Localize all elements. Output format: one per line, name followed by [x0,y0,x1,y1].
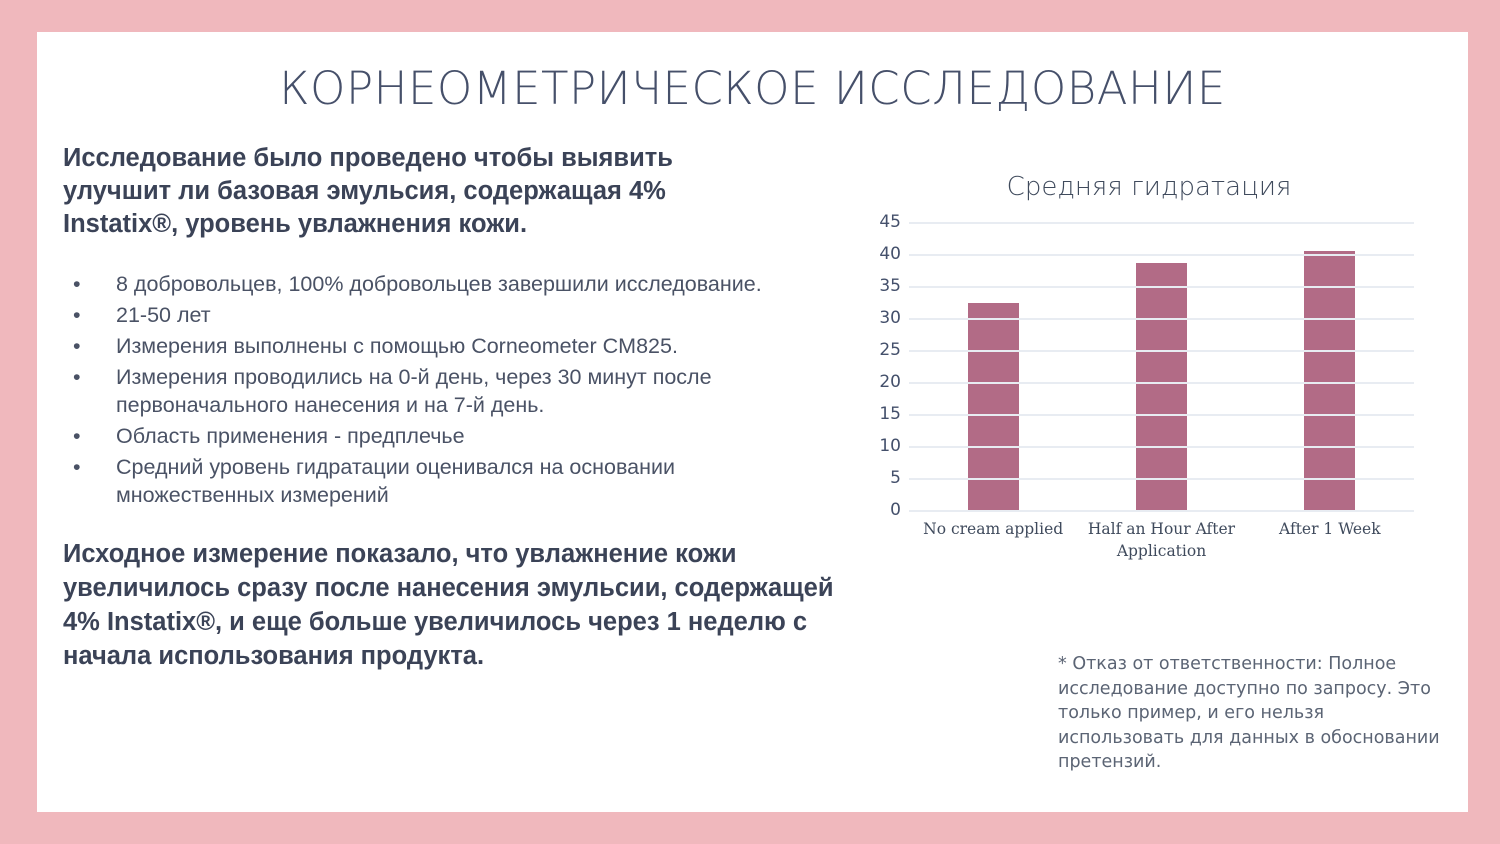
closing-paragraph: Исходное измерение показало, что увлажне… [63,538,863,674]
bullet-icon: • [73,302,81,330]
left-content-column: Исследование было проведено чтобы выявит… [63,142,883,674]
list-item: • 21-50 лет [63,302,773,330]
y-axis-tick-label: 10 [849,436,901,456]
gridline [909,254,1414,256]
gridline [909,382,1414,384]
y-axis-tick-label: 15 [849,404,901,424]
x-axis-tick-label: Half an Hour After Application [1078,518,1246,563]
plot-area [909,222,1414,510]
y-axis-tick-label: 20 [849,372,901,392]
gridline [909,222,1414,224]
gridline [909,414,1414,416]
list-item-label: Измерения проводились на 0-й день, через… [116,365,712,417]
gridline [909,446,1414,448]
bars-layer [909,222,1414,510]
lead-paragraph: Исследование было проведено чтобы выявит… [63,142,773,241]
list-item: • 8 добровольцев, 100% добровольцев заве… [63,271,773,299]
list-item-label: Средний уровень гидратации оценивался на… [116,455,675,507]
page-title: КОРНЕОМЕТРИЧЕСКОЕ ИССЛЕДОВАНИЕ [37,62,1468,115]
study-details-list: • 8 добровольцев, 100% добровольцев заве… [63,271,773,510]
y-axis-tick-label: 45 [849,212,901,232]
y-axis-tick-label: 25 [849,340,901,360]
gridline [909,286,1414,288]
y-axis: 454035302520151050 [849,222,901,510]
y-axis-tick-label: 5 [849,468,901,488]
gridline [909,510,1414,512]
x-axis-labels: No cream appliedHalf an Hour After Appli… [909,518,1414,588]
list-item: • Измерения проводились на 0-й день, чер… [63,364,773,420]
bullet-icon: • [73,364,81,392]
list-item-label: 8 добровольцев, 100% добровольцев заверш… [116,272,762,296]
hydration-bar-chart: Средняя гидратация 454035302520151050 No… [849,142,1449,582]
list-item-label: 21-50 лет [116,303,211,327]
bullet-icon: • [73,271,81,299]
list-item-label: Измерения выполнены с помощью Corneomete… [116,334,678,358]
bar [1304,251,1355,510]
x-axis-tick-label: After 1 Week [1246,518,1414,540]
bullet-icon: • [73,333,81,361]
bullet-icon: • [73,423,81,451]
x-axis-tick-label: No cream applied [909,518,1077,540]
gridline [909,478,1414,480]
disclaimer-text: * Отказ от ответственности: Полное иссле… [1058,652,1453,775]
list-item: • Область применения - предплечье [63,423,773,451]
slide-frame: КОРНЕОМЕТРИЧЕСКОЕ ИССЛЕДОВАНИЕ Исследова… [37,32,1468,812]
y-axis-tick-label: 0 [849,500,901,520]
chart-title: Средняя гидратация [849,172,1449,202]
gridline [909,318,1414,320]
y-axis-tick-label: 30 [849,308,901,328]
gridline [909,350,1414,352]
bullet-icon: • [73,454,81,482]
list-item-label: Область применения - предплечье [116,424,465,448]
chart-plot-wrapper: 454035302520151050 No cream appliedHalf … [849,222,1449,542]
bar [1136,263,1187,510]
list-item: • Измерения выполнены с помощью Corneome… [63,333,773,361]
list-item: • Средний уровень гидратации оценивался … [63,454,773,510]
y-axis-tick-label: 35 [849,276,901,296]
y-axis-tick-label: 40 [849,244,901,264]
